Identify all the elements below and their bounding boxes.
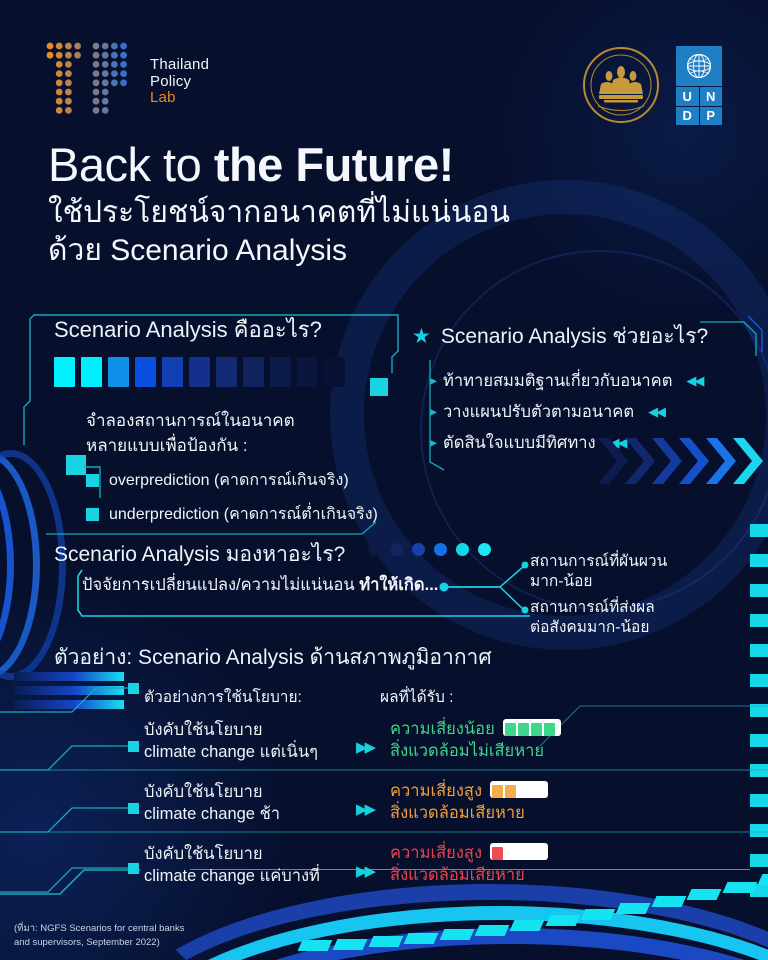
risk-meter — [490, 781, 548, 798]
undp-letters: U N D P — [676, 87, 722, 125]
section-what-body-line1: จำลองสถานการณ์ในอนาคต — [86, 409, 404, 434]
bullet-underprediction: underprediction (คาดการณ์ต่ำเกินจริง) — [86, 502, 404, 527]
double-right-arrow-icon: ▶▶ — [356, 800, 373, 818]
title-english: Back to the Future! — [48, 140, 588, 190]
infographic-canvas: Thailand Policy Lab — [0, 0, 768, 960]
look-outcome-2-line1: สถานการณ์ที่ส่งผล — [530, 598, 655, 618]
look-outcome-1-line1: สถานการณ์ที่ผันผวน — [530, 552, 667, 572]
look-outcome-1: สถานการณ์ที่ผันผวน มาก-น้อย — [530, 552, 667, 592]
decorative-dot-sequence — [368, 543, 491, 556]
tpl-wordmark: Thailand Policy Lab — [150, 57, 209, 107]
section-help-heading-row: ★ Scenario Analysis ช่วยอะไร? — [412, 320, 762, 353]
gradient-bar-strip — [54, 357, 404, 387]
decorative-edge-dashes — [746, 524, 768, 924]
section-what-heading: Scenario Analysis คืออะไร? — [24, 312, 404, 347]
bullet-overprediction-label: overprediction (คาดการณ์เกินจริง) — [109, 468, 349, 493]
title-en-bold: the Future! — [214, 138, 454, 191]
double-left-arrow-icon: ◀◀ — [686, 373, 702, 389]
risk-meter — [503, 719, 561, 736]
un-globe-icon — [676, 46, 722, 86]
bullet-overprediction: overprediction (คาดการณ์เกินจริง) — [86, 468, 404, 493]
section-what-body: จำลองสถานการณ์ในอนาคต หลายแบบเพื่อป้องกั… — [86, 409, 404, 458]
decorative-chevron-arrows — [598, 432, 768, 490]
double-right-arrow-icon: ▶▶ — [356, 862, 373, 880]
table-row: บังคับใช้นโยบาย climate change ช้า ▶▶ คว… — [144, 782, 744, 842]
help-item-1-label: ท้าทายสมมติฐานเกี่ยวกับอนาคต — [443, 368, 672, 394]
row-2-result-text: ความเสี่ยงสูง — [390, 782, 482, 800]
thailand-policy-lab-logo: Thailand Policy Lab — [44, 40, 209, 124]
undp-letter-n: N — [700, 87, 723, 106]
example-row-1-result: ความเสี่ยงน้อย สิ่งแวดล้อมไม่เสียหาย — [390, 719, 561, 763]
look-outcome-2: สถานการณ์ที่ส่งผล ต่อสังคมมาก-น้อย — [530, 598, 655, 638]
double-left-arrow-icon: ◀◀ — [648, 404, 664, 420]
decorative-arc-inner — [130, 928, 768, 960]
row-3-result-line2: สิ่งแวดล้อมเสียหาย — [390, 865, 548, 887]
row-3-result-text: ความเสี่ยงสูง — [390, 844, 482, 862]
title-thai: ใช้ประโยชน์จากอนาคตที่ไม่แน่นอน ด้วย Sce… — [48, 194, 588, 271]
bullet-square-icon — [86, 474, 99, 487]
row-2-result-line1: ความเสี่ยงสูง — [390, 781, 548, 803]
section-look-box-text: ปัจจัยการเปลี่ยนแปลง/ความไม่แน่นอน ทำให้… — [82, 572, 438, 598]
row-1-result-line2: สิ่งแวดล้อมไม่เสียหาย — [390, 741, 561, 763]
row-3-result-line1: ความเสี่ยงสูง — [390, 843, 548, 865]
title-thai-line2: ด้วย Scenario Analysis — [48, 232, 588, 270]
section-what-body-line2: หลายแบบเพื่อป้องกัน : — [86, 434, 404, 459]
section-example-heading: ตัวอย่าง: Scenario Analysis ด้านสภาพภูมิ… — [54, 641, 492, 674]
row-2-result-line2: สิ่งแวดล้อมเสียหาย — [390, 803, 548, 825]
logo-line-1: Thailand — [150, 57, 209, 74]
look-outcome-2-line2: ต่อสังคมมาก-น้อย — [530, 618, 655, 638]
undp-letter-u: U — [676, 87, 699, 106]
bullet-underprediction-label: underprediction (คาดการณ์ต่ำเกินจริง) — [109, 502, 378, 527]
risk-meter — [490, 843, 548, 860]
look-box-normal: ปัจจัยการเปลี่ยนแปลง/ความไม่แน่นอน — [82, 576, 359, 594]
tpl-dot-mark — [44, 40, 136, 124]
undp-letter-d: D — [676, 107, 699, 126]
section-look-branch-lines — [438, 552, 538, 622]
undp-logo: U N D P — [676, 46, 722, 124]
logo-line-2: Policy — [150, 74, 209, 91]
star-icon: ★ — [412, 326, 431, 347]
undp-letter-p: P — [700, 107, 723, 126]
table-row: บังคับใช้นโยบาย climate change แต่เนิ่นๆ… — [144, 720, 744, 780]
look-box-bold: ทำให้เกิด... — [359, 576, 438, 594]
help-item-2-label: วางแผนปรับตัวตามอนาคต — [443, 399, 634, 425]
section-look-heading: Scenario Analysis มองหาอะไร? — [54, 538, 345, 571]
footnote-line2: and supervisors, September 2022) — [14, 936, 184, 950]
footnote-line1: (ที่มา: NGFS Scenarios for central banks — [14, 922, 184, 936]
section-what-is: Scenario Analysis คืออะไร? จำลองสถานการณ… — [24, 312, 404, 527]
bullet-square-icon — [86, 508, 99, 521]
decorative-corner-line — [0, 868, 140, 904]
list-tick-icon: ▸ — [430, 403, 437, 420]
double-right-arrow-icon: ▶▶ — [356, 738, 373, 756]
section-help-heading: Scenario Analysis ช่วยอะไร? — [441, 320, 708, 353]
table-row: บังคับใช้นโยบาย climate change แค่บางที่… — [144, 844, 744, 904]
look-outcome-1-line2: มาก-น้อย — [530, 572, 667, 592]
help-item-2: ▸ วางแผนปรับตัวตามอนาคต ◀◀ — [430, 396, 762, 427]
title-thai-line1: ใช้ประโยชน์จากอนาคตที่ไม่แน่นอน — [48, 194, 588, 232]
row-1-result-line1: ความเสี่ยงน้อย — [390, 719, 561, 741]
nesdc-emblem-icon — [582, 46, 660, 124]
list-tick-icon: ▸ — [430, 434, 437, 451]
help-item-1: ▸ ท้าทายสมมติฐานเกี่ยวกับอนาคต ◀◀ — [430, 365, 762, 396]
example-col-result-header: ผลที่ได้รับ : — [380, 684, 453, 709]
title-en-light: Back to — [48, 138, 214, 191]
help-item-3-label: ตัดสินใจแบบมีทิศทาง — [443, 430, 596, 456]
row-1-result-text: ความเสี่ยงน้อย — [390, 720, 495, 738]
logo-line-3: Lab — [150, 90, 209, 107]
example-row-2-result: ความเสี่ยงสูง สิ่งแวดล้อมเสียหาย — [390, 781, 548, 825]
example-col-policy-header: ตัวอย่างการใช้นโยบาย: — [144, 684, 302, 709]
page-title: Back to the Future! ใช้ประโยชน์จากอนาคตท… — [48, 140, 588, 271]
example-row-3-result: ความเสี่ยงสูง สิ่งแวดล้อมเสียหาย — [390, 843, 548, 887]
decorative-arc-cyan — [120, 906, 768, 960]
footnote-source: (ที่มา: NGFS Scenarios for central banks… — [14, 922, 184, 950]
section-what-bullets: overprediction (คาดการณ์เกินจริง) underp… — [86, 468, 404, 527]
list-tick-icon: ▸ — [430, 372, 437, 389]
decorative-gradient-bars — [14, 672, 124, 720]
